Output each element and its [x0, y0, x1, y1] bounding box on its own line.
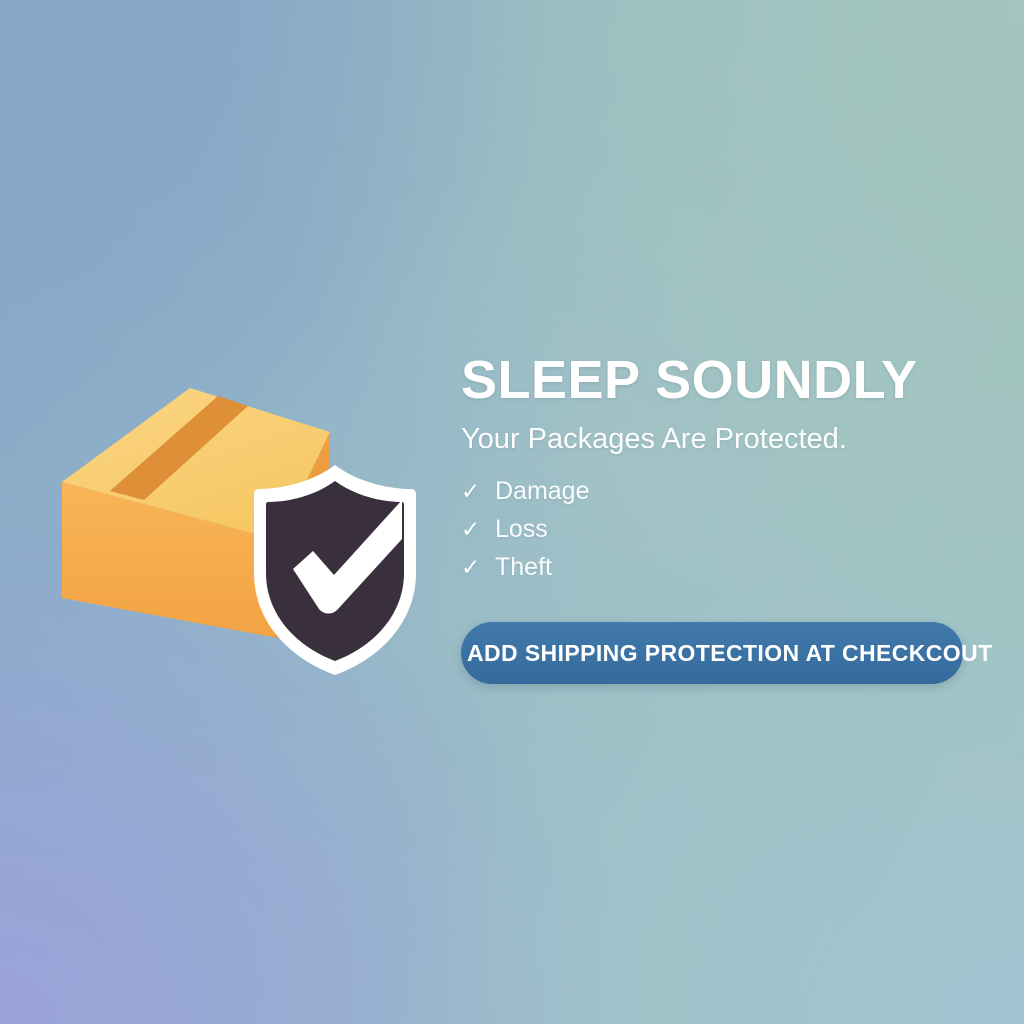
benefit-label: Damage [495, 477, 590, 506]
list-item: ✓ Theft [461, 548, 981, 586]
shield-check-icon [254, 465, 416, 675]
banner-copy: SLEEP SOUNDLY Your Packages Are Protecte… [461, 352, 981, 586]
check-icon: ✓ [461, 518, 495, 541]
page-title: SLEEP SOUNDLY [461, 352, 981, 408]
benefits-list: ✓ Damage ✓ Loss ✓ Theft [461, 472, 981, 586]
subtitle: Your Packages Are Protected. [461, 422, 981, 456]
check-icon: ✓ [461, 556, 495, 579]
list-item: ✓ Loss [461, 510, 981, 548]
list-item: ✓ Damage [461, 472, 981, 510]
check-icon: ✓ [461, 480, 495, 503]
package-protection-illustration [40, 370, 440, 680]
benefit-label: Theft [495, 553, 552, 582]
benefit-label: Loss [495, 515, 548, 544]
shipping-protection-banner: SLEEP SOUNDLY Your Packages Are Protecte… [0, 0, 1024, 1024]
add-shipping-protection-button[interactable]: ADD SHIPPING PROTECTION AT CHECKCOUT [461, 622, 963, 684]
